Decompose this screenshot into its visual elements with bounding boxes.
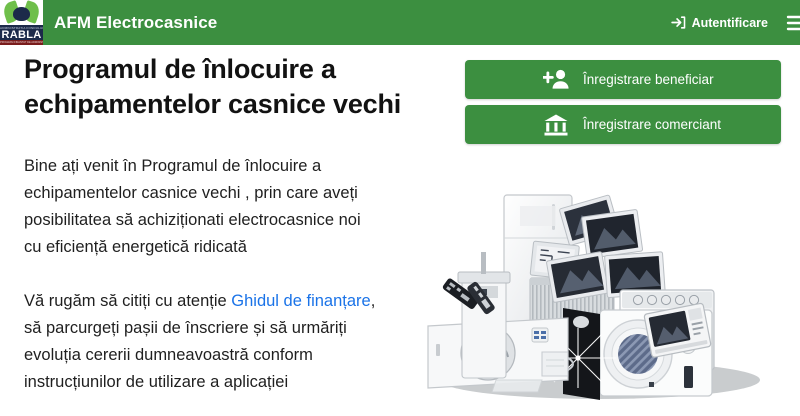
- register-beneficiary-button[interactable]: Înregistrare beneficiar: [465, 60, 781, 99]
- register-beneficiary-label: Înregistrare beneficiar: [583, 72, 714, 87]
- intro-paragraph: Bine ați venit în Programul de înlocuire…: [24, 153, 382, 261]
- app-header: ADMINISTRATIA FONDULUI PENTRU MEDIU RABL…: [0, 0, 800, 45]
- login-button-label: Autentificare: [692, 16, 768, 30]
- logo-core-shape: [13, 7, 30, 21]
- appliances-illustration: [400, 168, 800, 416]
- login-button[interactable]: Autentificare: [666, 8, 772, 37]
- rabla-logo[interactable]: ADMINISTRATIA FONDULUI PENTRU MEDIU RABL…: [0, 0, 43, 45]
- person-add-icon: [541, 67, 571, 93]
- login-arrow-icon: [670, 14, 687, 31]
- water-heater: [458, 252, 510, 378]
- rabla-logo-emblem: [0, 0, 43, 26]
- bank-icon: [541, 112, 571, 138]
- header-actions: Autentificare: [666, 0, 800, 45]
- register-merchant-button[interactable]: Înregistrare comerciant: [465, 105, 781, 144]
- hamburger-menu-icon[interactable]: [780, 6, 800, 40]
- rabla-logo-word: RABLA: [0, 30, 43, 40]
- rabla-logo-subtext: PROGRAM FINANTAT DE ADMINISTRATIA FONDUL…: [0, 40, 43, 45]
- register-merchant-label: Înregistrare comerciant: [583, 117, 721, 132]
- guide-paragraph-before: Vă rugăm să citiți cu atenție: [24, 292, 231, 310]
- app-title: AFM Electrocasnice: [54, 13, 217, 33]
- kettle: [542, 352, 573, 376]
- guide-paragraph: Vă rugăm să citiți cu atenție Ghidul de …: [24, 288, 382, 396]
- appliance-base: [492, 380, 542, 392]
- page-root: ADMINISTRATIA FONDULUI PENTRU MEDIU RABL…: [0, 0, 800, 416]
- page-title: Programul de înlocuire a echipamentelor …: [24, 52, 444, 121]
- financing-guide-link[interactable]: Ghidul de finanțare: [231, 292, 370, 310]
